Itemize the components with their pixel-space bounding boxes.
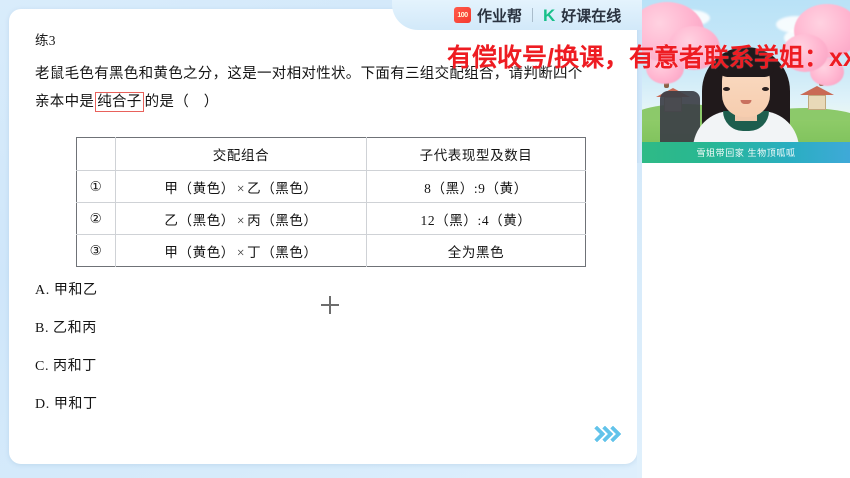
row-result: 8（黑）:9（黄）	[367, 171, 586, 203]
row-index: ①	[77, 171, 116, 203]
slide-card: 练3 老鼠毛色有黑色和黄色之分，这是一对相对性状。下面有三组交配组合，请判断四个…	[9, 9, 637, 464]
video-caption-banner: 雪姐带回家 生物顶呱呱	[642, 142, 850, 163]
parent-a: 乙（黑色）	[164, 213, 235, 228]
cross-operator: ×	[235, 213, 247, 228]
question-text-part2: 的是（ ）	[145, 94, 219, 110]
option-a[interactable]: A.甲和乙	[35, 284, 335, 298]
right-panel-gap	[637, 163, 642, 478]
k-logo-icon: K	[543, 7, 555, 24]
hair-front	[718, 49, 774, 77]
highlighted-term: 纯合子	[95, 92, 143, 112]
question-text: 老鼠毛色有黑色和黄色之分，这是一对相对性状。下面有三组交配组合，请判断四个亲本中…	[35, 60, 595, 117]
option-a-label: 甲和乙	[54, 283, 98, 298]
option-b[interactable]: B.乙和丙	[35, 322, 335, 336]
option-d[interactable]: D.甲和丁	[35, 398, 335, 412]
parent-a: 甲（黄色）	[164, 181, 235, 196]
table-head: 交配组合 子代表现型及数目	[77, 138, 586, 171]
zyb-logo-icon: 100	[454, 7, 471, 23]
table-header-result: 子代表现型及数目	[367, 138, 586, 171]
table-row: ② 乙（黑色）×丙（黑色） 12（黑）:4（黄）	[77, 203, 586, 235]
video-caption-text: 雪姐带回家 生物顶呱呱	[696, 146, 795, 159]
table-body: ① 甲（黄色）×乙（黑色） 8（黑）:9（黄） ② 乙（黑色）×丙（黑色） 12…	[77, 171, 586, 267]
eye-left	[723, 87, 730, 91]
teacher-video-panel[interactable]: 雪姐带回家 生物顶呱呱	[642, 0, 850, 163]
option-a-key: A.	[35, 283, 50, 298]
row-cross: 甲（黄色）×乙（黑色）	[116, 171, 367, 203]
table-row: ③ 甲（黄色）×丁（黑色） 全为黑色	[77, 235, 586, 267]
row-result: 12（黑）:4（黄）	[367, 203, 586, 235]
parent-b: 丁（黑色）	[247, 245, 318, 260]
table-header-index	[77, 138, 116, 171]
table-header-cross: 交配组合	[116, 138, 367, 171]
option-c-key: C.	[35, 359, 49, 374]
row-index: ②	[77, 203, 116, 235]
row-cross: 甲（黄色）×丁（黑色）	[116, 235, 367, 267]
sub-brand-name: 好课在线	[561, 5, 621, 26]
eye-right	[762, 87, 769, 91]
exercise-label: 练3	[35, 29, 615, 49]
answer-options: A.甲和乙 B.乙和丙 C.丙和丁 D.甲和丁	[35, 284, 335, 436]
cross-operator: ×	[235, 245, 247, 260]
row-cross: 乙（黑色）×丙（黑色）	[116, 203, 367, 235]
option-c-label: 丙和丁	[53, 359, 97, 374]
table-row: ① 甲（黄色）×乙（黑色） 8（黑）:9（黄）	[77, 171, 586, 203]
option-b-label: 乙和丙	[53, 321, 97, 336]
option-d-label: 甲和丁	[54, 397, 98, 412]
brand-name: 作业帮	[477, 5, 522, 26]
chevron-right-icon	[607, 427, 616, 444]
slide-content: 练3 老鼠毛色有黑色和黄色之分，这是一对相对性状。下面有三组交配组合，请判断四个…	[9, 9, 637, 464]
crosshair-cursor-icon	[321, 296, 339, 314]
right-panel-blank	[642, 163, 850, 478]
parent-b: 丙（黑色）	[247, 213, 318, 228]
option-d-key: D.	[35, 397, 50, 412]
row-result: 全为黑色	[367, 235, 586, 267]
next-page-button[interactable]	[591, 427, 615, 444]
row-index: ③	[77, 235, 116, 267]
parent-b: 乙（黑色）	[247, 181, 318, 196]
table-header-row: 交配组合 子代表现型及数目	[77, 138, 586, 171]
brand-divider	[532, 8, 533, 22]
screen-root: 100 作业帮 K 好课在线 练3 老鼠毛色有黑色和黄色之分，这是一对相对性状。…	[0, 0, 850, 478]
parent-a: 甲（黄色）	[164, 245, 235, 260]
option-b-key: B.	[35, 321, 49, 336]
cross-operator: ×	[235, 181, 247, 196]
brand-group: 100 作业帮 K 好课在线	[454, 3, 621, 27]
option-c[interactable]: C.丙和丁	[35, 360, 335, 374]
cross-combination-table: 交配组合 子代表现型及数目 ① 甲（黄色）×乙（黑色） 8（黑）:9（黄） ② …	[76, 137, 586, 267]
